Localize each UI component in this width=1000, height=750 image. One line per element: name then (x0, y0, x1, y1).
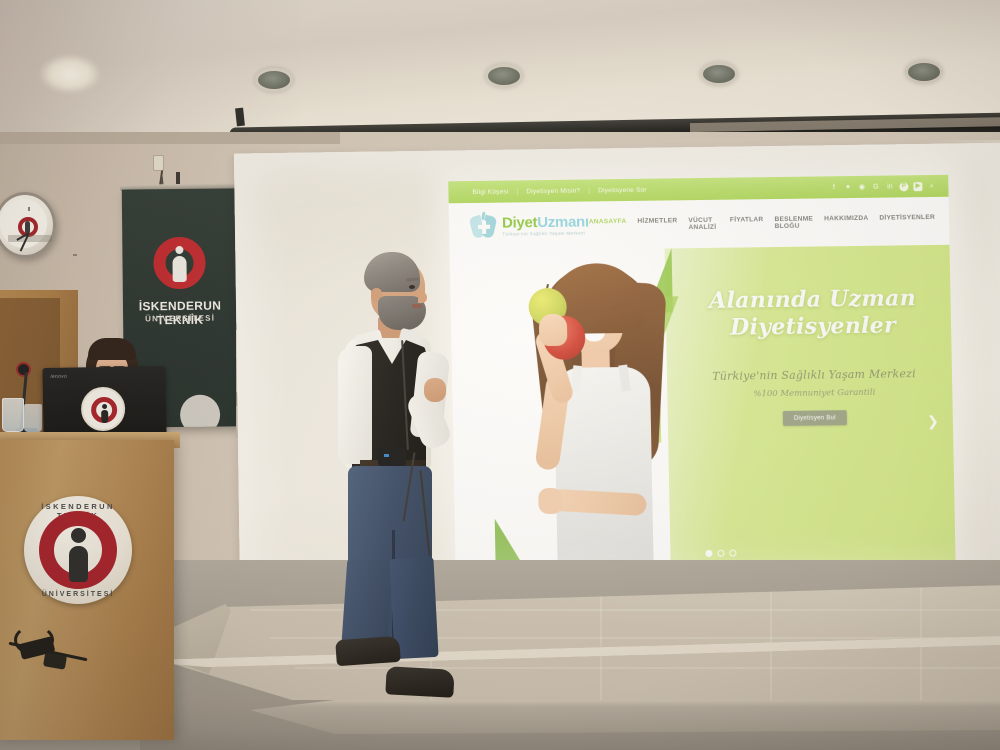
hero-heading-line1: Alanında Uzman (709, 285, 916, 314)
ceiling-light-glow (40, 55, 100, 93)
twitter-icon[interactable]: ✦ (843, 183, 852, 192)
sticker-body-icon (101, 410, 108, 423)
banner-logo-body-icon (172, 256, 186, 282)
hero-heading: Alanında Uzman Diyetisyenler (678, 285, 947, 342)
lenovo-laptop[interactable]: lenovo (42, 366, 166, 440)
site-logo-icon[interactable] (471, 212, 498, 242)
water-glass (2, 398, 24, 432)
menu-item-diyetisyenler[interactable]: DİYETİSYENLER (879, 214, 935, 229)
podium-university-emblem: İSKENDERUN TEKNİK ÜNİVERSİTESİ (24, 496, 132, 604)
slider-dot-1[interactable] (705, 550, 712, 557)
seated-person-fringe (88, 338, 136, 360)
slider-dot-2[interactable] (717, 550, 724, 557)
logo-word-diyet: Diyet (502, 214, 538, 231)
site-navbar: DiyetUzmanı Türkiye'nin Sağlıklı Yaşam M… (449, 197, 950, 252)
banner-logo-dot-icon (175, 246, 183, 254)
logo-word-uzmani: Uzmanı (537, 214, 589, 232)
search-icon[interactable]: ⌕ (927, 181, 936, 190)
downlight-icon (700, 62, 738, 86)
menu-item-beslenme-blogu[interactable]: BESLENME BLOĞU (774, 216, 813, 231)
slider-next-arrow-icon[interactable]: ❯ (925, 413, 941, 429)
logo-wordmark: DiyetUzmanı (502, 215, 589, 231)
laptop-university-sticker (81, 387, 126, 432)
water-glass (24, 404, 42, 432)
woman-hand-holding-apples (539, 314, 568, 346)
separator: | (588, 187, 590, 194)
logo-tagline: Türkiye'nin Sağlıklı Yaşam Merkezi (502, 232, 589, 238)
instagram-icon[interactable]: ◉ (857, 182, 866, 191)
hero-heading-line2: Diyetisyenler (679, 312, 947, 342)
menu-item-vucut-analizi[interactable]: VÜCUT ANALİZİ (688, 217, 719, 231)
hero-photo-woman-with-apples (490, 254, 696, 575)
clock-tick (28, 207, 30, 211)
slider-dot-3[interactable] (729, 550, 736, 557)
facebook-icon[interactable]: f (829, 183, 838, 192)
emblem-body-icon (69, 546, 88, 582)
clock-face (0, 199, 47, 248)
stage-plank-seam (920, 585, 922, 713)
laptop-brand-label: lenovo (50, 374, 67, 380)
slider-dots (705, 550, 736, 557)
wall-trim (0, 132, 340, 144)
presenter-right-shoe (385, 666, 454, 698)
wall-clock (0, 192, 58, 260)
menu-item-hizmetler[interactable]: HİZMETLER (637, 217, 677, 232)
logo-cross-icon (478, 225, 490, 229)
presentation-hall-photo: İSKENDERUN TEKNİK ÜNİVERSİTESİ Bilgi Köş… (0, 0, 1000, 750)
emblem-bottom-text: ÜNİVERSİTESİ (24, 591, 132, 598)
presenter-left-shoe (335, 636, 401, 666)
clock-brand-text (8, 235, 52, 242)
downlight-icon (905, 60, 943, 84)
presenter-left-arm (338, 346, 372, 464)
clock-tick (73, 254, 77, 256)
pinterest-icon[interactable]: P (899, 182, 908, 191)
downlight-icon (485, 64, 523, 88)
social-links: f ✦ ◉ G in P ▶ ⌕ (829, 181, 936, 191)
presenter-eye (409, 285, 415, 289)
topbar-link-diyetisyene-sor[interactable]: Diyetisyene Sor (598, 186, 647, 194)
wireless-mic-transmitter (378, 448, 406, 466)
find-dietitian-button[interactable]: Diyetisyen Bul (783, 410, 847, 426)
hero-slider: Alanında Uzman Diyetisyenler Türkiye'nin… (450, 245, 956, 576)
menu-item-hakkimizda[interactable]: HAKKIMIZDA (824, 215, 869, 230)
emblem-dot-icon (71, 528, 86, 543)
projected-website: Bilgi Köşesi | Diyetisyen Misin? | Diyet… (448, 175, 956, 576)
hero-subtitle: Türkiye'nin Sağlıklı Yaşam Merkezi (680, 366, 948, 383)
linkedin-icon[interactable]: in (885, 182, 894, 191)
separator: | (516, 188, 518, 195)
menu-item-fiyatlar[interactable]: FİYATLAR (730, 216, 764, 230)
downlight-icon (255, 68, 293, 92)
topbar-links: Bilgi Köşesi | Diyetisyen Misin? | Diyet… (472, 186, 646, 195)
google-plus-icon[interactable]: G (871, 182, 880, 191)
youtube-icon[interactable]: ▶ (913, 182, 922, 191)
wall-socket[interactable] (153, 155, 164, 171)
presenter-nose (418, 292, 427, 303)
topbar-link-bilgi-kosesi[interactable]: Bilgi Köşesi (472, 188, 508, 195)
sticker-dot-icon (102, 404, 107, 409)
hero-text-block: Alanında Uzman Diyetisyenler Türkiye'nin… (678, 285, 949, 427)
presenter-hand (424, 378, 446, 402)
woman-hand (538, 488, 562, 514)
banner-subtitle: ÜNİVERSİTESİ (123, 313, 237, 323)
topbar-link-diyetisyen-misin[interactable]: Diyetisyen Misin? (526, 187, 580, 195)
site-logo-text[interactable]: DiyetUzmanı Türkiye'nin Sağlıklı Yaşam M… (502, 215, 589, 238)
presenter-mouth (412, 304, 422, 308)
mic-transmitter-led (384, 454, 389, 457)
menu-item-anasayfa[interactable]: ANASAYFA (589, 218, 627, 232)
hero-guarantee: %100 Memnuniyet Garantili (680, 386, 948, 400)
main-menu: ANASAYFA HİZMETLER VÜCUT ANALİZİ FİYATLA… (589, 214, 936, 233)
